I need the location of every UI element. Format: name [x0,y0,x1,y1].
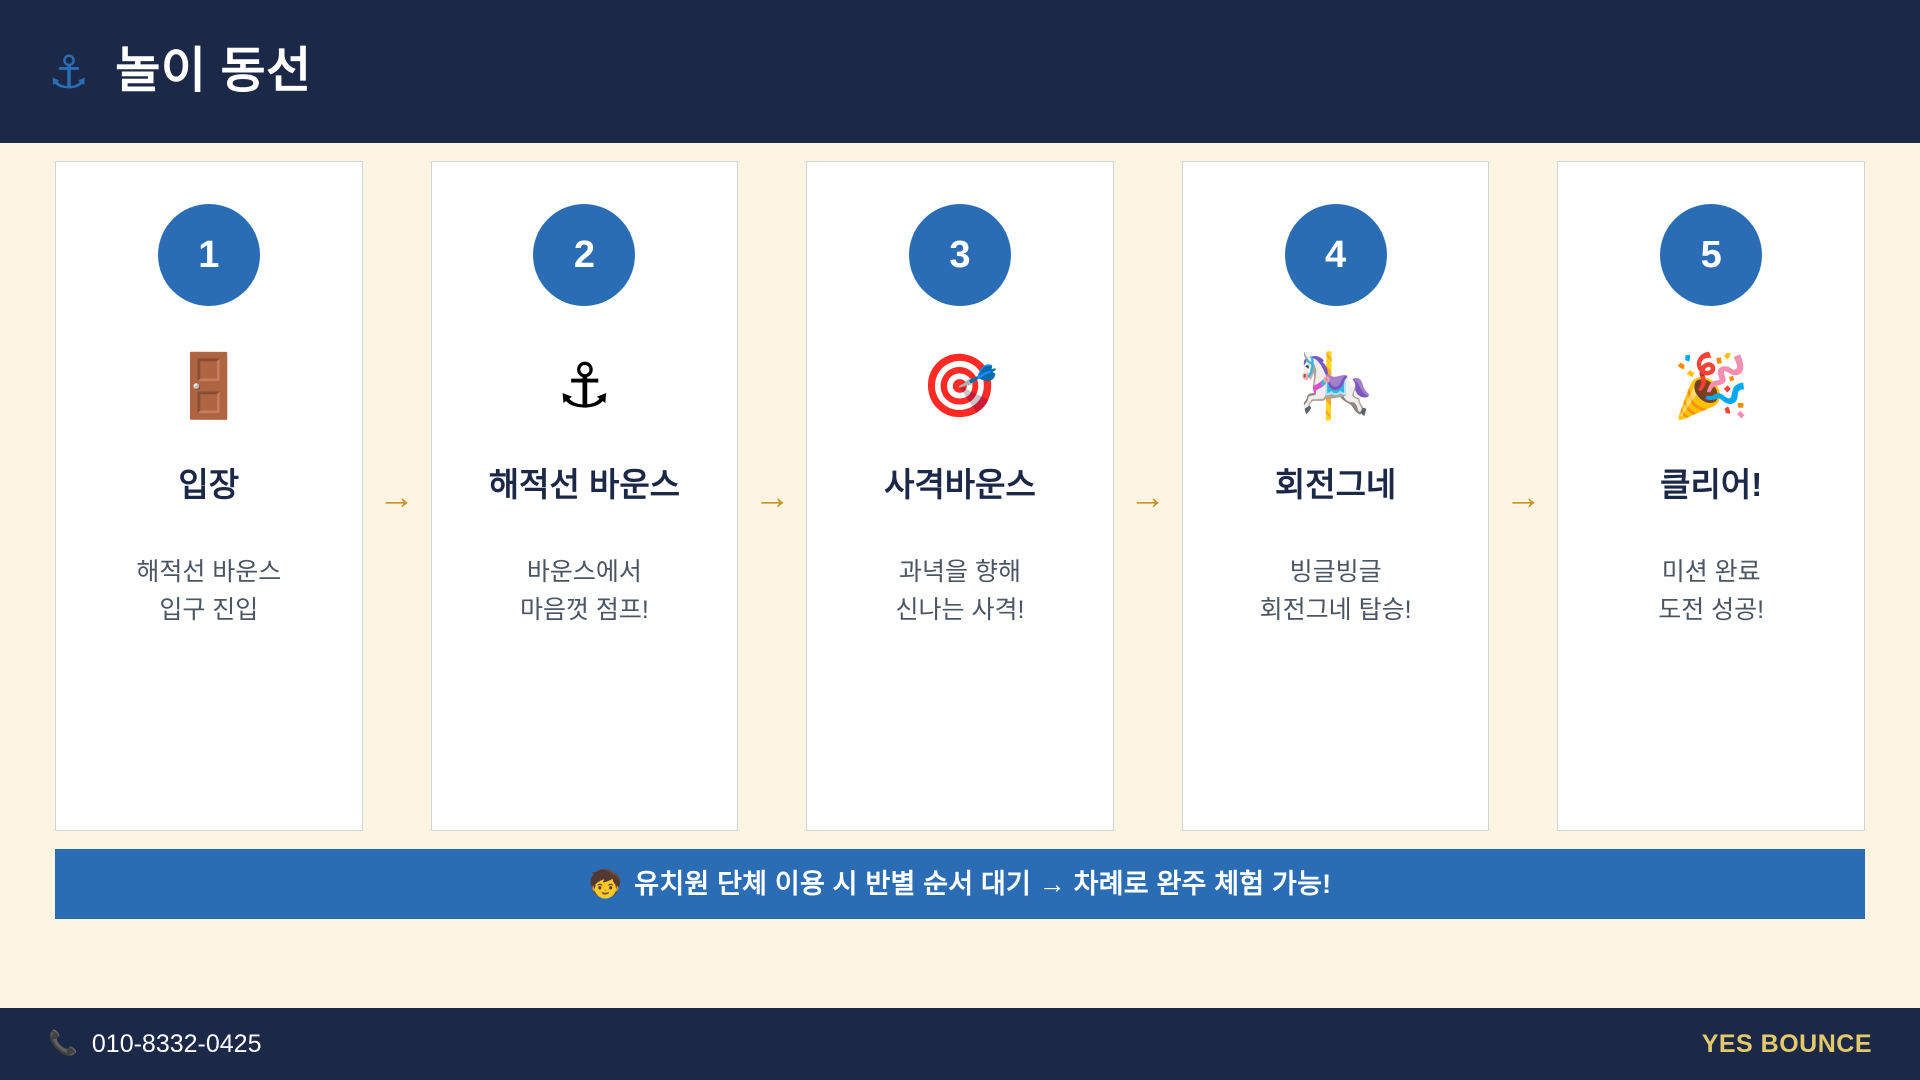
anchor-icon: ⚓ [48,49,89,95]
footer-brand-name: YES BOUNCE [1702,1032,1872,1057]
door-icon: 🚪 [170,351,247,423]
group-notice-text: 유치원 단체 이용 시 반별 순서 대기 → 차례로 완주 체험 가능! [634,871,1331,898]
step-card-3[interactable]: 3 🎯 사격바운스 과녁을 향해 신나는 사격! [806,161,1114,831]
page-footer: 📞 010-8332-0425 YES BOUNCE [0,1008,1920,1080]
step-number-badge: 5 [1660,204,1762,306]
playflow-page: ⚓ 놀이 동선 1 🚪 입장 해적선 바운스 입구 진입 → 2 ⚓ 해적선 바… [0,0,1920,1080]
flow-arrow-2: → [738,161,806,831]
footer-phone-number: 010-8332-0425 [92,1032,262,1057]
page-header: ⚓ 놀이 동선 [0,0,1920,143]
group-notice-banner: 🧒 유치원 단체 이용 시 반별 순서 대기 → 차례로 완주 체험 가능! [55,849,1865,919]
page-title: 놀이 동선 [115,47,311,96]
step-card-1[interactable]: 1 🚪 입장 해적선 바운스 입구 진입 [55,161,363,831]
carousel-horse-icon: 🎠 [1297,351,1374,423]
step-card-4[interactable]: 4 🎠 회전그네 빙글빙글 회전그네 탑승! [1182,161,1490,831]
child-icon: 🧒 [589,871,623,898]
anchor-icon: ⚓ [557,351,613,423]
step-card-5[interactable]: 5 🎉 클리어! 미션 완료 도전 성공! [1557,161,1865,831]
step-title: 회전그네 [1275,465,1396,505]
steps-row: 1 🚪 입장 해적선 바운스 입구 진입 → 2 ⚓ 해적선 바운스 바운스에서… [55,161,1865,831]
flow-arrow-4: → [1489,161,1557,831]
step-title: 사격바운스 [884,465,1036,505]
party-popper-icon: 🎉 [1673,351,1750,423]
step-number-badge: 1 [158,204,260,306]
step-title: 클리어! [1660,465,1762,505]
step-title: 해적선 바운스 [489,465,680,505]
target-dart-icon: 🎯 [921,351,998,423]
step-number-badge: 2 [533,204,635,306]
main-content: 1 🚪 입장 해적선 바운스 입구 진입 → 2 ⚓ 해적선 바운스 바운스에서… [0,143,1920,1008]
flow-arrow-3: → [1114,161,1182,831]
step-number-badge: 4 [1285,204,1387,306]
step-description: 미션 완료 도전 성공! [1658,553,1764,631]
footer-contact[interactable]: 📞 010-8332-0425 [48,1032,261,1057]
step-description: 과녁을 향해 신나는 사격! [896,553,1025,631]
step-title: 입장 [178,465,239,505]
step-description: 해적선 바운스 입구 진입 [136,553,281,631]
step-description: 바운스에서 마음껏 점프! [520,553,649,631]
step-number-badge: 3 [909,204,1011,306]
flow-arrow-1: → [363,161,431,831]
step-description: 빙글빙글 회전그네 탑승! [1260,553,1412,631]
phone-icon: 📞 [48,1032,78,1056]
step-card-2[interactable]: 2 ⚓ 해적선 바운스 바운스에서 마음껏 점프! [431,161,739,831]
